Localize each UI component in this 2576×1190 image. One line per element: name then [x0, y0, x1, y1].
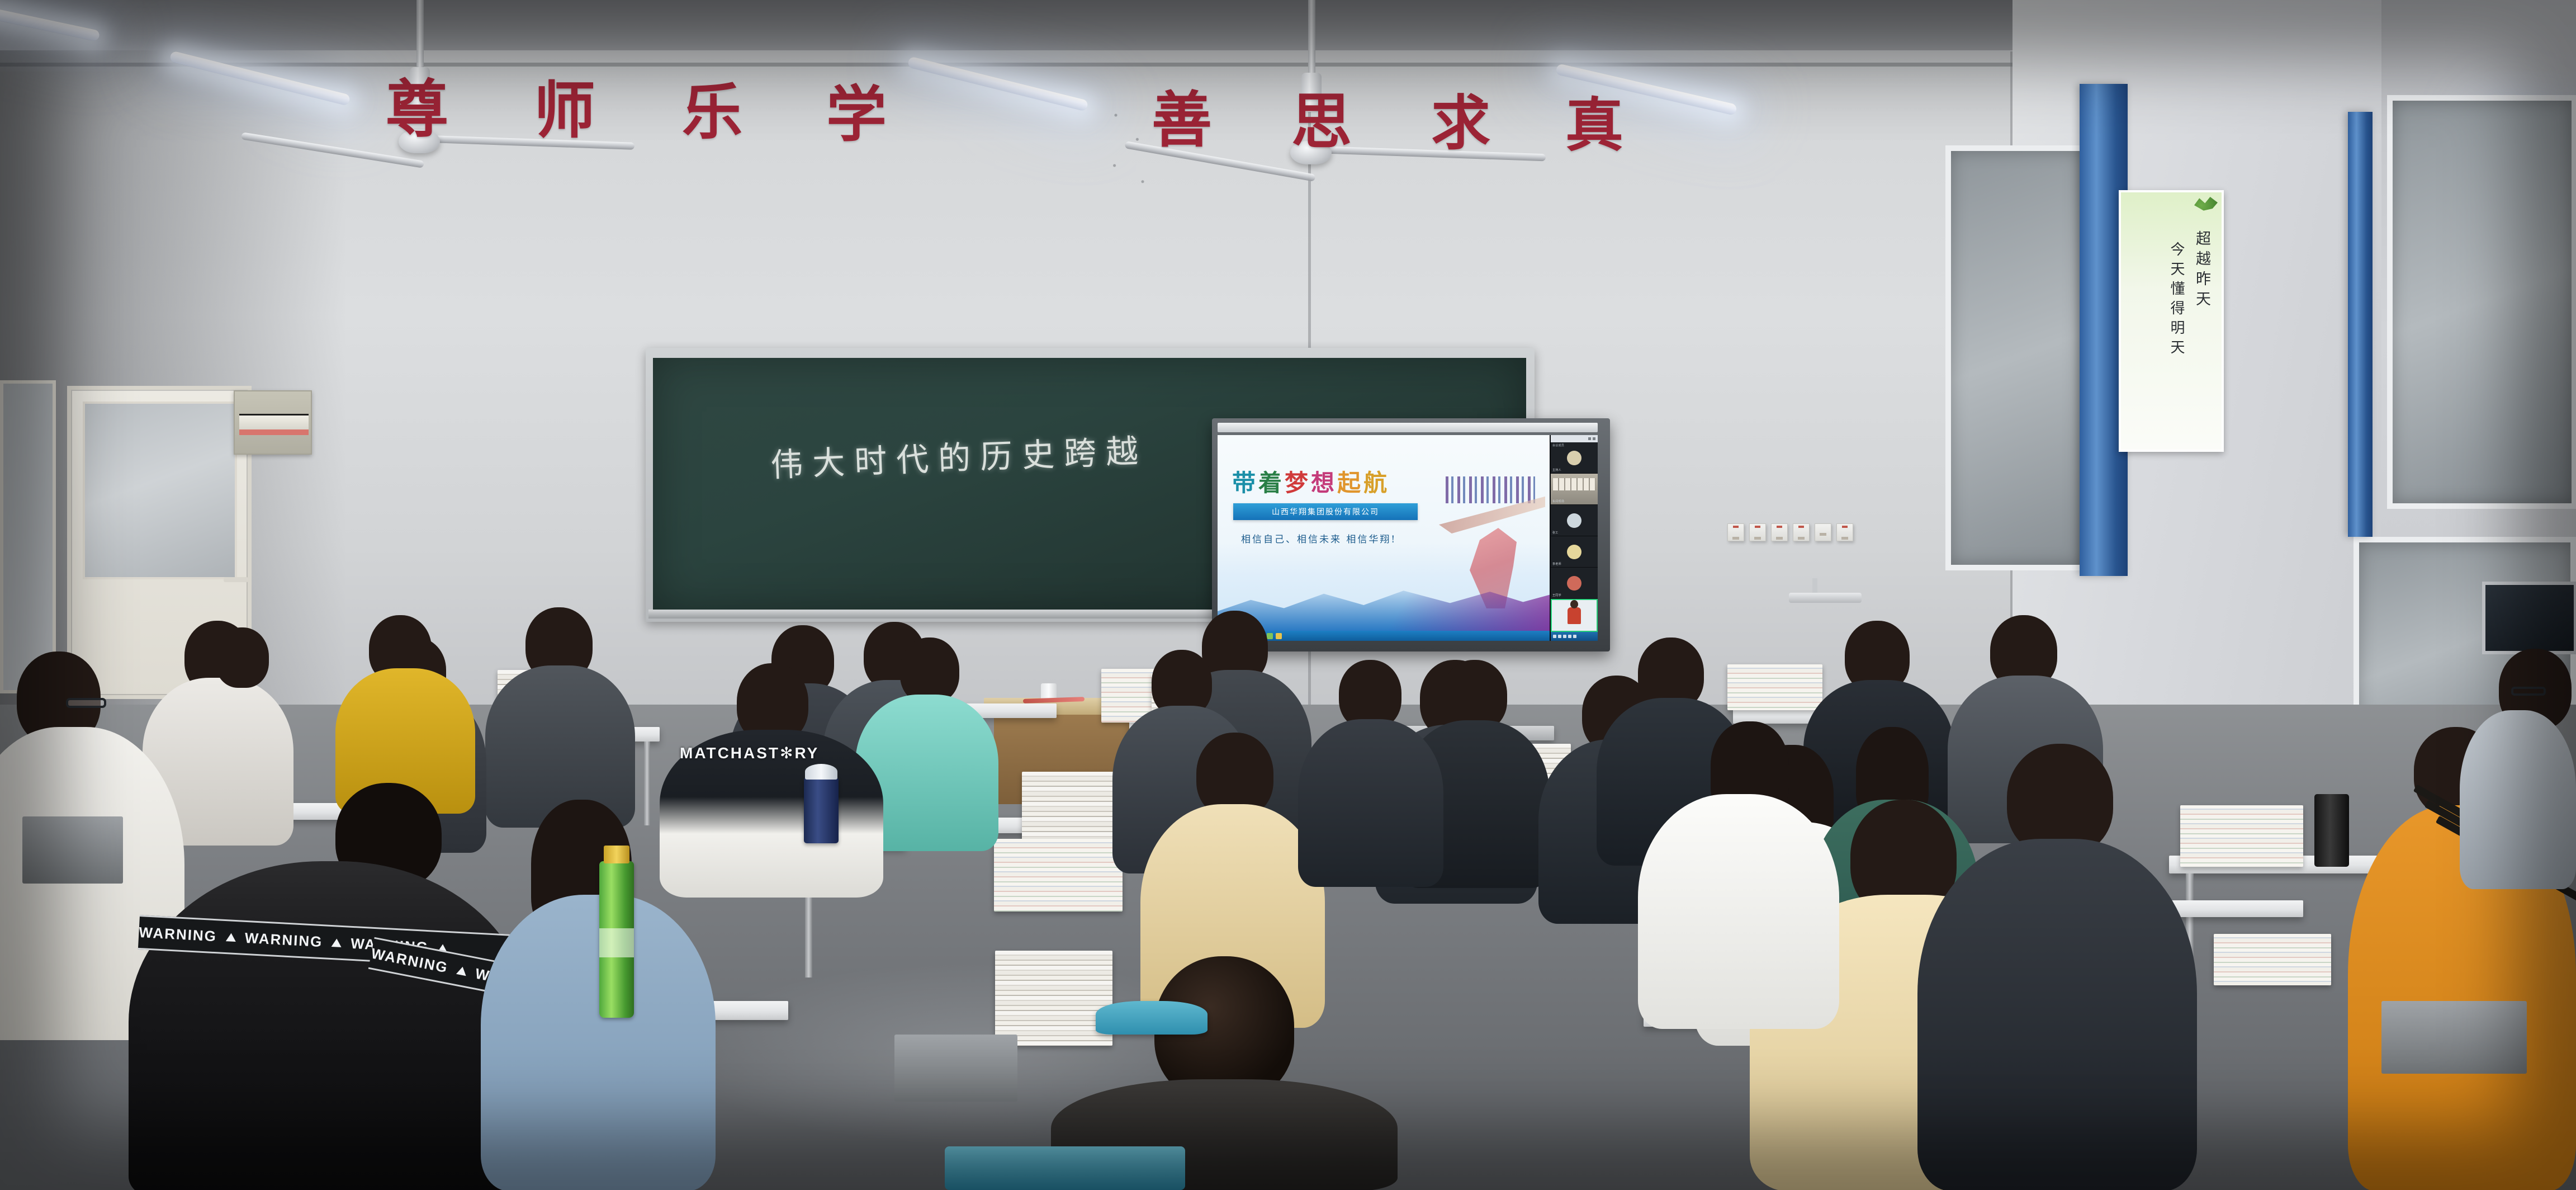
light-switch[interactable]	[1749, 523, 1766, 541]
poster-column-2: 今天懂得明天	[2166, 242, 2187, 426]
window[interactable]	[2387, 95, 2576, 509]
avatar	[1567, 513, 1581, 528]
chair	[894, 1035, 1017, 1102]
minimize-icon[interactable]	[1588, 437, 1591, 440]
avatar	[1567, 545, 1581, 559]
camera-icon[interactable]	[1558, 635, 1561, 638]
avatar	[1567, 451, 1581, 465]
light-switch[interactable]	[1727, 523, 1744, 541]
book-stack	[994, 839, 1123, 912]
city-skyline-graphic	[1446, 476, 1535, 503]
door-sidelight	[0, 380, 56, 693]
light-switch[interactable]	[1815, 523, 1831, 541]
light-switch[interactable]	[1793, 523, 1810, 541]
workshop-shelf-graphic	[1553, 478, 1595, 490]
conference-tile-name: 主持人	[1552, 468, 1561, 472]
banner-char-8: 真	[1565, 96, 1623, 154]
light-switch[interactable]	[1771, 523, 1788, 541]
share-icon[interactable]	[1563, 635, 1566, 638]
book-stack	[2180, 805, 2303, 867]
warning-triangle-icon	[456, 966, 468, 976]
conference-tile[interactable]: 王同学	[1551, 568, 1598, 599]
app-icon[interactable]	[1267, 633, 1273, 639]
window[interactable]	[1945, 145, 2085, 570]
slide-title-char-4: 想	[1311, 469, 1337, 497]
more-icon[interactable]	[1573, 635, 1576, 638]
conference-tile-toplabel: 会议成员	[1552, 443, 1564, 447]
conference-tile[interactable]: 会议成员 主持人	[1551, 442, 1598, 474]
bottle-label	[599, 928, 634, 957]
conference-titlebar[interactable]	[1551, 435, 1598, 442]
conference-sidebar[interactable]: 会议成员 主持人 车间现场 张工 李老师 王同学	[1550, 435, 1598, 641]
warning-tape-text: WARNING	[244, 929, 323, 950]
jacket-text-matchastory: MATCHAST✻RY	[680, 744, 819, 762]
microphone-icon[interactable]	[1553, 635, 1556, 638]
slide-title-char-3: 梦	[1285, 469, 1311, 497]
participants-icon[interactable]	[1568, 635, 1571, 638]
eyeglasses	[2511, 687, 2546, 696]
banner-char-1: 尊	[386, 78, 448, 141]
book-stack	[1727, 664, 1822, 710]
electrical-panel-box[interactable]	[234, 390, 312, 455]
banner-char-2: 师	[534, 80, 595, 141]
calligraphy-poster: 超越昨天 今天懂得明天	[2119, 190, 2224, 452]
warning-triangle-icon	[226, 933, 236, 942]
conference-tile-name: 张工	[1552, 531, 1559, 535]
banner-char-3: 乐	[682, 83, 742, 143]
thermos	[804, 777, 839, 843]
conference-toolbar[interactable]	[1551, 632, 1598, 641]
slide-title-char-6: 航	[1363, 469, 1390, 497]
slide-title-char-5: 起	[1337, 469, 1363, 497]
thermos-black	[2314, 794, 2349, 867]
conference-tile-active-speaker[interactable]	[1551, 599, 1598, 632]
projector-mount	[1789, 593, 1862, 603]
blue-desk-object	[945, 1146, 1185, 1190]
conference-tile[interactable]: 车间现场	[1551, 474, 1598, 505]
book-stack	[2214, 934, 2331, 985]
bottle-cap	[604, 846, 629, 863]
slide-company-name: 山西华翔集团股份有限公司	[1272, 506, 1379, 517]
avatar	[1567, 576, 1581, 591]
wall-monitor[interactable]	[2482, 582, 2576, 654]
door-handle[interactable]	[224, 577, 248, 582]
conference-tile[interactable]: 张工	[1551, 505, 1598, 536]
eyeglasses	[66, 698, 106, 708]
conference-tile-name: 车间现场	[1552, 499, 1564, 503]
slide-company-banner: 山西华翔集团股份有限公司	[1233, 503, 1418, 520]
banner-char-7: 求	[1431, 94, 1490, 153]
app-icon[interactable]	[1276, 633, 1282, 639]
thermos-cap	[805, 764, 837, 780]
warning-tape-text: WARNING	[370, 945, 449, 976]
leaf-icon	[2194, 195, 2218, 212]
light-switch-row[interactable]	[1727, 523, 1853, 541]
light-switch[interactable]	[1836, 523, 1853, 541]
curtain[interactable]	[2348, 112, 2373, 537]
conference-tile[interactable]: 李老师	[1551, 536, 1598, 568]
slide-title-char-2: 着	[1258, 469, 1285, 497]
slide-subtitle: 相信自己、相信未来 相信华翔!	[1241, 531, 1396, 545]
blue-bowl-object	[1096, 1001, 1207, 1035]
banner-char-6: 思	[1291, 92, 1352, 153]
chair	[22, 816, 123, 884]
projector-screen-topbar	[1218, 423, 1598, 432]
participant-video	[1568, 607, 1581, 624]
book-stack	[995, 951, 1112, 1046]
door-frosted-glass	[83, 402, 237, 579]
warning-triangle-icon	[332, 938, 342, 947]
conference-tile-name: 李老师	[1552, 562, 1561, 566]
slide-title-char-1: 带	[1232, 469, 1258, 497]
projector-screen[interactable]: 带着梦想起航 山西华翔集团股份有限公司 相信自己、相信未来 相信华翔!	[1218, 435, 1598, 641]
desk-leg	[644, 742, 650, 825]
slide-title: 带着梦想起航	[1232, 464, 1390, 498]
wall-scribbles	[1096, 95, 1163, 196]
banner-char-4: 学	[826, 85, 887, 145]
presentation-slide: 带着梦想起航 山西华翔集团股份有限公司 相信自己、相信未来 相信华翔!	[1218, 435, 1550, 641]
conference-tile-name: 王同学	[1552, 593, 1561, 597]
classroom-scene: 尊 师 乐 学 善 思 求 真 伟大时代的历史跨越 带着梦想起航 山西华翔集团股…	[0, 0, 2576, 1190]
warning-tape-text: WARNING	[139, 923, 217, 945]
chair	[2381, 1001, 2527, 1074]
close-icon[interactable]	[1593, 437, 1595, 440]
poster-column-1: 超越昨天	[2191, 230, 2213, 426]
